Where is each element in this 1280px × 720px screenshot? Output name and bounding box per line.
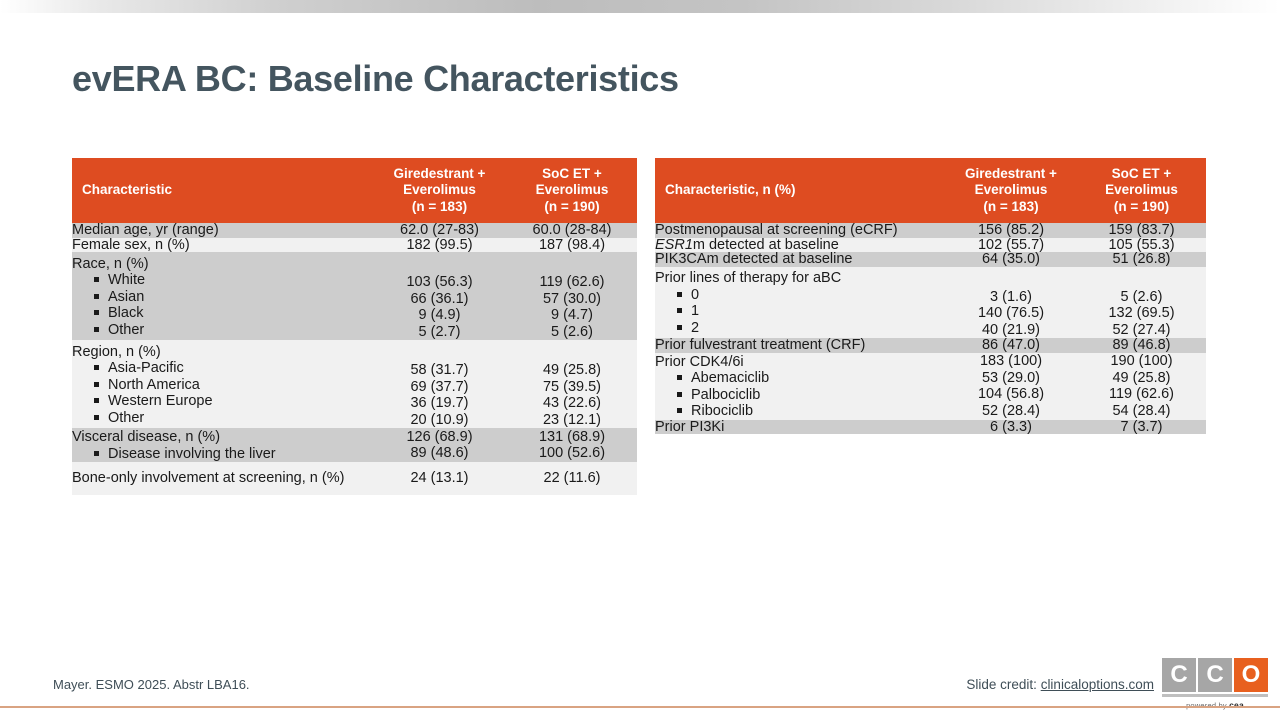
source-citation: Mayer. ESMO 2025. Abstr LBA16. bbox=[53, 677, 250, 692]
cell-value: 53 (29.0) bbox=[945, 370, 1077, 387]
cell-value: 131 (68.9) bbox=[507, 429, 637, 446]
table-row-group-visceral-disease: Visceral disease, n (%) Disease involvin… bbox=[72, 428, 637, 462]
logo-tagline-brand: cea bbox=[1229, 700, 1244, 710]
header-line-2: Everolimus bbox=[955, 182, 1067, 198]
header-line-3: (n = 190) bbox=[1087, 199, 1196, 215]
cell-value: 183 (100) bbox=[945, 353, 1077, 370]
column-header-characteristic: Characteristic bbox=[72, 158, 372, 223]
cell-value: 104 (56.8) bbox=[945, 386, 1077, 403]
column-header-giredestrant-everolimus: Giredestrant + Everolimus (n = 183) bbox=[945, 158, 1077, 223]
table-row: Female sex, n (%) 182 (99.5) 187 (98.4) bbox=[72, 238, 637, 253]
cell-value: 52 (27.4) bbox=[1077, 322, 1206, 339]
row-value-arm2: 89 (46.8) bbox=[1077, 338, 1206, 353]
row-values-arm2: 5 (2.6) 132 (69.5) 52 (27.4) bbox=[1077, 267, 1206, 339]
cell-value: 52 (28.4) bbox=[945, 403, 1077, 420]
row-value-arm1: 6 (3.3) bbox=[945, 420, 1077, 435]
cell-value: 126 (68.9) bbox=[372, 429, 507, 446]
table-row-group-prior-lines: Prior lines of therapy for aBC 0 1 2 3 (… bbox=[655, 267, 1206, 339]
list-item: Black bbox=[72, 305, 372, 322]
row-label: Bone-only involvement at screening, n (%… bbox=[72, 462, 372, 495]
row-label-group: Prior lines of therapy for aBC 0 1 2 bbox=[655, 267, 945, 339]
row-value-arm1: 102 (55.7) bbox=[945, 238, 1077, 253]
column-header-characteristic: Characteristic, n (%) bbox=[655, 158, 945, 223]
cell-value: 103 (56.3) bbox=[372, 274, 507, 291]
row-values-arm2: 49 (25.8) 75 (39.5) 43 (22.6) 23 (12.1) bbox=[507, 340, 637, 428]
baseline-characteristics-table-right: Characteristic, n (%) Giredestrant + Eve… bbox=[655, 158, 1206, 434]
list-item: Asian bbox=[72, 289, 372, 306]
bullet-icon bbox=[677, 408, 682, 413]
column-header-soc-et-everolimus: SoC ET + Everolimus (n = 190) bbox=[507, 158, 637, 223]
row-label: Median age, yr (range) bbox=[72, 223, 372, 238]
bullet-icon bbox=[94, 327, 99, 332]
cell-value: 9 (4.9) bbox=[372, 307, 507, 324]
cell-value: 119 (62.6) bbox=[1077, 386, 1206, 403]
row-value-arm2: 7 (3.7) bbox=[1077, 420, 1206, 435]
page-title: evERA BC: Baseline Characteristics bbox=[72, 58, 679, 100]
row-value-arm1: 62.0 (27-83) bbox=[372, 223, 507, 238]
cell-value: 58 (31.7) bbox=[372, 362, 507, 379]
table-row-group-race: Race, n (%) White Asian Black Other 103 … bbox=[72, 252, 637, 340]
header-line-3: (n = 183) bbox=[955, 199, 1067, 215]
header-line-1: Giredestrant + bbox=[955, 166, 1067, 182]
bottom-accent-rule bbox=[0, 706, 1280, 708]
cell-value: 49 (25.8) bbox=[507, 362, 637, 379]
bullet-icon bbox=[677, 375, 682, 380]
cell-value: 9 (4.7) bbox=[507, 307, 637, 324]
table-row-group-prior-cdk46i: Prior CDK4/6i Abemaciclib Palbociclib Ri… bbox=[655, 353, 1206, 420]
group-title: Prior lines of therapy for aBC bbox=[655, 269, 945, 287]
table-row: Postmenopausal at screening (eCRF) 156 (… bbox=[655, 223, 1206, 238]
logo-letter-c2: C bbox=[1198, 658, 1232, 692]
list-item: 2 bbox=[655, 320, 945, 337]
bullet-icon bbox=[677, 292, 682, 297]
list-item: 1 bbox=[655, 303, 945, 320]
table-row-group-region: Region, n (%) Asia-Pacific North America… bbox=[72, 340, 637, 428]
header-line-1: Giredestrant + bbox=[382, 166, 497, 182]
row-label-group: Visceral disease, n (%) Disease involvin… bbox=[72, 428, 372, 462]
logo-letter-c1: C bbox=[1162, 658, 1196, 692]
table-row: Prior PI3Ki 6 (3.3) 7 (3.7) bbox=[655, 420, 1206, 435]
cell-value: 66 (36.1) bbox=[372, 291, 507, 308]
cell-value: 23 (12.1) bbox=[507, 412, 637, 429]
group-title: Region, n (%) bbox=[72, 343, 372, 361]
header-line-2: Everolimus bbox=[1087, 182, 1196, 198]
row-values-arm2: 119 (62.6) 57 (30.0) 9 (4.7) 5 (2.6) bbox=[507, 252, 637, 340]
row-value-arm2: 51 (26.8) bbox=[1077, 252, 1206, 267]
bullet-icon bbox=[677, 325, 682, 330]
bullet-icon bbox=[94, 415, 99, 420]
header-line-2: Everolimus bbox=[382, 182, 497, 198]
row-values-arm1: 103 (56.3) 66 (36.1) 9 (4.9) 5 (2.7) bbox=[372, 252, 507, 340]
cell-value: 20 (10.9) bbox=[372, 412, 507, 429]
row-value-arm1: 156 (85.2) bbox=[945, 223, 1077, 238]
list-item: Asia-Pacific bbox=[72, 360, 372, 377]
cell-value: 3 (1.6) bbox=[945, 289, 1077, 306]
table-row: Bone-only involvement at screening, n (%… bbox=[72, 462, 637, 495]
row-label: Prior fulvestrant treatment (CRF) bbox=[655, 338, 945, 353]
list-item: Other bbox=[72, 410, 372, 427]
list-item: Other bbox=[72, 322, 372, 339]
list-item: 0 bbox=[655, 287, 945, 304]
list-item: White bbox=[72, 272, 372, 289]
row-value-arm1: 24 (13.1) bbox=[372, 462, 507, 495]
header-line-3: (n = 183) bbox=[382, 199, 497, 215]
baseline-characteristics-table-left: Characteristic Giredestrant + Everolimus… bbox=[72, 158, 637, 495]
column-header-giredestrant-everolimus: Giredestrant + Everolimus (n = 183) bbox=[372, 158, 507, 223]
top-decorative-band bbox=[0, 0, 1280, 13]
table-row: Median age, yr (range) 62.0 (27-83) 60.0… bbox=[72, 223, 637, 238]
row-value-arm1: 64 (35.0) bbox=[945, 252, 1077, 267]
row-value-arm2: 105 (55.3) bbox=[1077, 238, 1206, 253]
cell-value: 140 (76.5) bbox=[945, 305, 1077, 322]
cell-value: 54 (28.4) bbox=[1077, 403, 1206, 420]
list-item: Palbociclib bbox=[655, 387, 945, 404]
bullet-icon bbox=[94, 277, 99, 282]
bullet-icon bbox=[94, 398, 99, 403]
row-value-arm2: 22 (11.6) bbox=[507, 462, 637, 495]
bullet-icon bbox=[94, 451, 99, 456]
row-label-group: Race, n (%) White Asian Black Other bbox=[72, 252, 372, 340]
table-header-row: Characteristic, n (%) Giredestrant + Eve… bbox=[655, 158, 1206, 223]
logo-letter-o: O bbox=[1234, 658, 1268, 692]
table-header-row: Characteristic Giredestrant + Everolimus… bbox=[72, 158, 637, 223]
row-values-arm2: 190 (100) 49 (25.8) 119 (62.6) 54 (28.4) bbox=[1077, 353, 1206, 420]
row-value-arm2: 159 (83.7) bbox=[1077, 223, 1206, 238]
cell-value: 49 (25.8) bbox=[1077, 370, 1206, 387]
cell-value: 40 (21.9) bbox=[945, 322, 1077, 339]
row-values-arm2: 131 (68.9) 100 (52.6) bbox=[507, 428, 637, 462]
row-value-arm1: 86 (47.0) bbox=[945, 338, 1077, 353]
bullet-icon bbox=[677, 308, 682, 313]
bullet-icon bbox=[677, 392, 682, 397]
row-values-arm1: 58 (31.7) 69 (37.7) 36 (19.7) 20 (10.9) bbox=[372, 340, 507, 428]
slide-credit-prefix: Slide credit: bbox=[966, 677, 1040, 692]
list-item: Ribociclib bbox=[655, 403, 945, 420]
cell-value: 75 (39.5) bbox=[507, 379, 637, 396]
group-title: Race, n (%) bbox=[72, 255, 372, 273]
logo-divider bbox=[1162, 694, 1268, 697]
cell-value: 5 (2.6) bbox=[1077, 289, 1206, 306]
row-label: PIK3CAm detected at baseline bbox=[655, 252, 945, 267]
group-title: Visceral disease, n (%) bbox=[72, 428, 372, 446]
row-value-arm2: 60.0 (28-84) bbox=[507, 223, 637, 238]
cell-value: 43 (22.6) bbox=[507, 395, 637, 412]
cell-value: 57 (30.0) bbox=[507, 291, 637, 308]
bullet-icon bbox=[94, 294, 99, 299]
cell-value: 5 (2.6) bbox=[507, 324, 637, 341]
header-line-1: SoC ET + bbox=[1087, 166, 1196, 182]
cco-logo: C C O powered by cea bbox=[1162, 658, 1272, 710]
row-value-arm2: 187 (98.4) bbox=[507, 238, 637, 253]
table-row: PIK3CAm detected at baseline 64 (35.0) 5… bbox=[655, 252, 1206, 267]
list-item: Disease involving the liver bbox=[72, 446, 372, 463]
cell-value: 89 (48.6) bbox=[372, 445, 507, 462]
row-label: ESR1m detected at baseline bbox=[655, 238, 945, 253]
list-item: Abemaciclib bbox=[655, 370, 945, 387]
header-line-3: (n = 190) bbox=[517, 199, 627, 215]
cco-logo-squares: C C O bbox=[1162, 658, 1272, 692]
table-row: ESR1m detected at baseline 102 (55.7) 10… bbox=[655, 238, 1206, 253]
slide-credit: Slide credit: clinicaloptions.com bbox=[966, 677, 1154, 692]
cell-value: 69 (37.7) bbox=[372, 379, 507, 396]
row-label-group: Prior CDK4/6i Abemaciclib Palbociclib Ri… bbox=[655, 353, 945, 420]
row-values-arm1: 183 (100) 53 (29.0) 104 (56.8) 52 (28.4) bbox=[945, 353, 1077, 420]
column-header-soc-et-everolimus: SoC ET + Everolimus (n = 190) bbox=[1077, 158, 1206, 223]
header-line-1: SoC ET + bbox=[517, 166, 627, 182]
row-values-arm1: 3 (1.6) 140 (76.5) 40 (21.9) bbox=[945, 267, 1077, 339]
list-item: North America bbox=[72, 377, 372, 394]
cell-value: 5 (2.7) bbox=[372, 324, 507, 341]
row-label: Prior PI3Ki bbox=[655, 420, 945, 435]
bullet-icon bbox=[94, 382, 99, 387]
row-values-arm1: 126 (68.9) 89 (48.6) bbox=[372, 428, 507, 462]
bullet-icon bbox=[94, 365, 99, 370]
logo-tagline: powered by cea bbox=[1162, 700, 1268, 710]
cell-value: 190 (100) bbox=[1077, 353, 1206, 370]
row-label: Female sex, n (%) bbox=[72, 238, 372, 253]
table-row: Prior fulvestrant treatment (CRF) 86 (47… bbox=[655, 338, 1206, 353]
row-label: Postmenopausal at screening (eCRF) bbox=[655, 223, 945, 238]
bullet-icon bbox=[94, 310, 99, 315]
cell-value: 100 (52.6) bbox=[507, 445, 637, 462]
list-item: Western Europe bbox=[72, 393, 372, 410]
clinicaloptions-link[interactable]: clinicaloptions.com bbox=[1041, 677, 1154, 692]
row-value-arm1: 182 (99.5) bbox=[372, 238, 507, 253]
cell-value: 36 (19.7) bbox=[372, 395, 507, 412]
header-line-2: Everolimus bbox=[517, 182, 627, 198]
group-title: Prior CDK4/6i bbox=[655, 353, 945, 371]
row-label-group: Region, n (%) Asia-Pacific North America… bbox=[72, 340, 372, 428]
cell-value: 132 (69.5) bbox=[1077, 305, 1206, 322]
cell-value: 119 (62.6) bbox=[507, 274, 637, 291]
